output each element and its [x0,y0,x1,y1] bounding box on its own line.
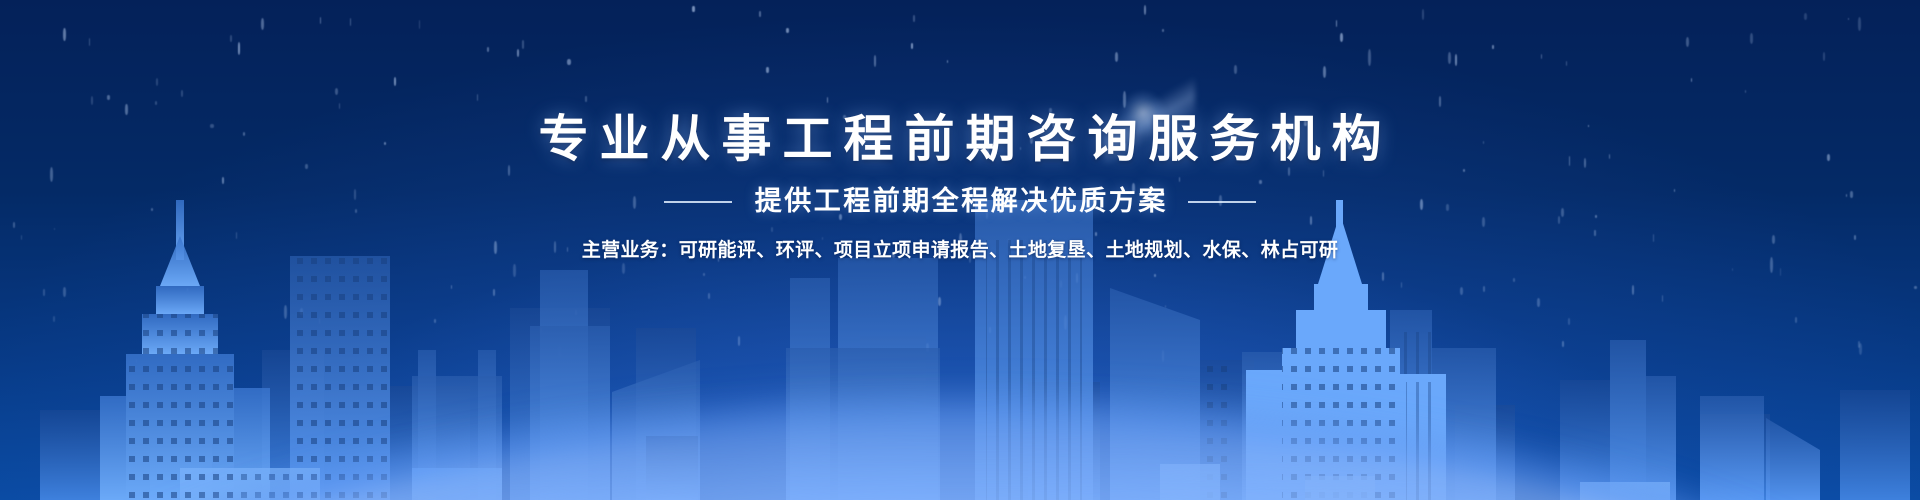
star-particle [355,209,357,212]
star-particle [1288,133,1291,150]
star-particle [319,318,320,324]
star-particle [554,241,556,253]
star-particle [892,252,895,258]
star-particle [692,6,694,12]
star-particle [1259,180,1262,184]
star-particle [1124,143,1126,150]
star-particle [1569,156,1571,165]
star-particle [1914,286,1916,289]
star-particle [913,15,915,22]
star-particle [13,222,15,228]
star-particle [238,42,240,55]
star-particle [1537,298,1540,307]
star-particle [843,115,846,120]
city-skyline-illustration [0,200,1920,500]
star-particle [187,288,188,291]
star-particle [718,256,720,262]
star-particle [1770,257,1773,273]
star-particle [1053,120,1055,127]
star-particle [1745,90,1746,94]
star-particle [335,88,338,95]
promo-banner: 专业从事工程前期咨询服务机构 提供工程前期全程解决优质方案 主营业务：可研能评、… [0,0,1920,500]
star-particle [974,131,977,142]
star-particle [54,228,55,230]
star-particle [1686,37,1689,47]
star-particle [1325,283,1327,290]
star-particle [1858,341,1861,348]
star-particle [1323,66,1326,78]
right-dash-decoration [1188,201,1256,203]
star-particle [1128,206,1130,212]
star-particle [107,95,110,99]
star-particle [766,67,769,73]
star-particle [236,232,238,239]
star-particle [1340,33,1343,42]
star-particle [874,55,877,67]
star-particle [585,96,586,102]
star-particle [1850,191,1853,197]
star-particle [622,263,625,273]
star-particle [839,214,842,221]
left-dash-decoration [664,201,732,203]
star-particle [786,28,789,32]
star-particle [1609,154,1610,159]
starfield [0,0,1920,500]
star-particle [959,233,962,249]
star-particle [1455,54,1458,66]
star-particle [1095,232,1098,236]
star-particle [1632,285,1634,295]
star-particle [1463,169,1465,172]
star-particle [1165,305,1166,308]
star-particle [1132,183,1135,193]
star-particle [1566,61,1568,66]
star-particle [156,78,158,86]
star-particle [1076,273,1078,282]
star-particle [1732,268,1733,271]
star-particle [1060,280,1062,288]
star-particle [419,20,421,29]
star-particle [1401,282,1402,288]
star-particle [493,289,495,295]
star-particle [210,124,213,128]
star-particle [575,310,576,314]
star-particle [1568,318,1570,325]
star-particle [1859,343,1862,355]
star-particle [567,247,568,252]
star-particle [155,101,157,105]
star-particle [540,327,541,334]
star-particle [1584,158,1586,168]
star-particle [1446,204,1449,210]
star-particle [1020,147,1021,150]
star-particle [1858,17,1861,30]
star-particle [494,241,496,254]
star-particle [230,35,231,42]
star-particle [517,49,519,57]
star-particle [243,132,245,136]
star-particle [1588,125,1589,127]
star-particle [91,96,93,105]
star-particle [181,90,183,97]
star-particle [89,38,91,46]
star-particle [305,164,308,169]
star-particle [1674,189,1675,192]
star-particle [1008,239,1010,243]
star-particle [987,145,989,156]
star-particle [1366,312,1368,318]
star-particle [738,336,741,346]
star-particle [969,252,971,263]
star-particle [947,60,948,64]
star-particle [1439,96,1441,106]
star-particle [1795,317,1797,323]
star-particle [1179,177,1180,183]
star-particle [938,297,941,306]
star-particle [1653,234,1655,241]
star-particle [1804,13,1807,20]
star-particle [1162,350,1164,362]
star-particle [354,189,356,199]
star-particle [522,40,525,49]
star-particle [567,59,570,66]
star-particle [151,208,153,211]
star-particle [703,273,704,277]
star-particle [986,211,988,219]
star-particle [1381,336,1384,343]
star-particle [434,319,436,323]
star-particle [50,167,53,182]
star-particle [53,316,55,322]
star-particle [1162,29,1163,32]
star-particle [1750,33,1753,43]
light-glow-icon [1120,90,1166,136]
star-particle [487,47,489,52]
banner-content: 专业从事工程前期咨询服务机构 提供工程前期全程解决优质方案 主营业务：可研能评、… [0,0,1920,260]
star-particle [1123,91,1126,107]
banner-services-line: 主营业务：可研能评、环评、项目立项申请报告、土地复垦、土地规划、水保、林占可研 [0,241,1920,260]
horizon-glow [0,400,1920,500]
star-particle [477,94,479,101]
star-particle [1558,216,1560,224]
star-particle [1144,5,1146,15]
star-particle [1368,49,1371,66]
star-particle [284,305,287,319]
star-particle [1492,45,1493,49]
star-particle [1483,286,1485,293]
star-particle [350,18,352,26]
star-particle [694,133,696,136]
star-particle [451,285,452,289]
star-particle [1310,216,1313,226]
star-particle [1115,52,1118,61]
star-particle [687,146,690,152]
star-particle [136,359,137,363]
banner-subtitle-row: 提供工程前期全程解决优质方案 [0,188,1920,215]
star-particle [300,308,303,315]
star-particle [1846,194,1847,197]
light-flare-icon [1105,58,1195,188]
star-particle [1482,217,1485,227]
star-particle [708,293,710,299]
star-particle [822,237,823,240]
star-particle [1823,52,1825,61]
star-particle [43,289,44,296]
star-particle [1513,278,1515,282]
star-particle [1854,235,1856,241]
star-particle [355,348,356,352]
star-particle [1448,52,1451,65]
star-particle [1561,208,1564,217]
star-particle [513,264,515,277]
star-particle [328,277,329,281]
star-particle [222,177,224,184]
star-particle [384,142,386,146]
star-particle [125,104,128,115]
star-particle [1460,287,1463,295]
star-particle [633,196,636,209]
star-particle [759,11,761,16]
star-particle [63,28,66,42]
star-particle [1594,230,1595,235]
star-particle [1096,190,1097,194]
banner-subtitle: 提供工程前期全程解决优质方案 [752,188,1168,215]
star-particle [320,17,321,24]
star-particle [1323,170,1325,177]
star-particle [1154,274,1156,276]
star-particle [827,97,828,103]
star-particle [1063,130,1065,139]
star-particle [1336,20,1337,27]
star-particle [1420,199,1423,210]
star-particle [1691,78,1692,82]
star-particle [1234,65,1237,74]
star-particle [21,235,22,239]
star-particle [508,165,510,176]
star-particle [1662,295,1663,302]
star-particle [558,345,561,358]
star-particle [1541,54,1542,59]
banner-headline: 专业从事工程前期咨询服务机构 [0,0,1920,164]
star-particle [771,227,773,232]
star-particle [1483,141,1484,144]
star-particle [934,256,936,259]
star-particle [1562,341,1564,347]
star-particle [1848,18,1849,20]
star-particle [911,43,913,49]
star-particle [261,18,264,30]
star-particle [1049,108,1052,113]
star-particle [1827,154,1830,160]
star-particle [1024,276,1026,279]
star-particle [1772,235,1775,244]
star-particle [926,343,929,352]
horizon-glow-rim [0,428,1920,500]
star-particle [1190,128,1192,136]
star-particle [1304,120,1307,126]
star-particle [394,77,396,86]
star-particle [63,287,66,297]
star-particle [989,327,992,333]
star-particle [1382,272,1385,282]
star-particle [1288,167,1290,176]
star-particle [971,123,974,128]
star-particle [1595,215,1597,218]
star-particle [339,103,340,109]
star-particle [1422,9,1424,19]
star-particle [1030,132,1033,144]
star-particle [1219,195,1222,206]
star-particle [1064,315,1067,329]
star-particle [1780,268,1781,276]
